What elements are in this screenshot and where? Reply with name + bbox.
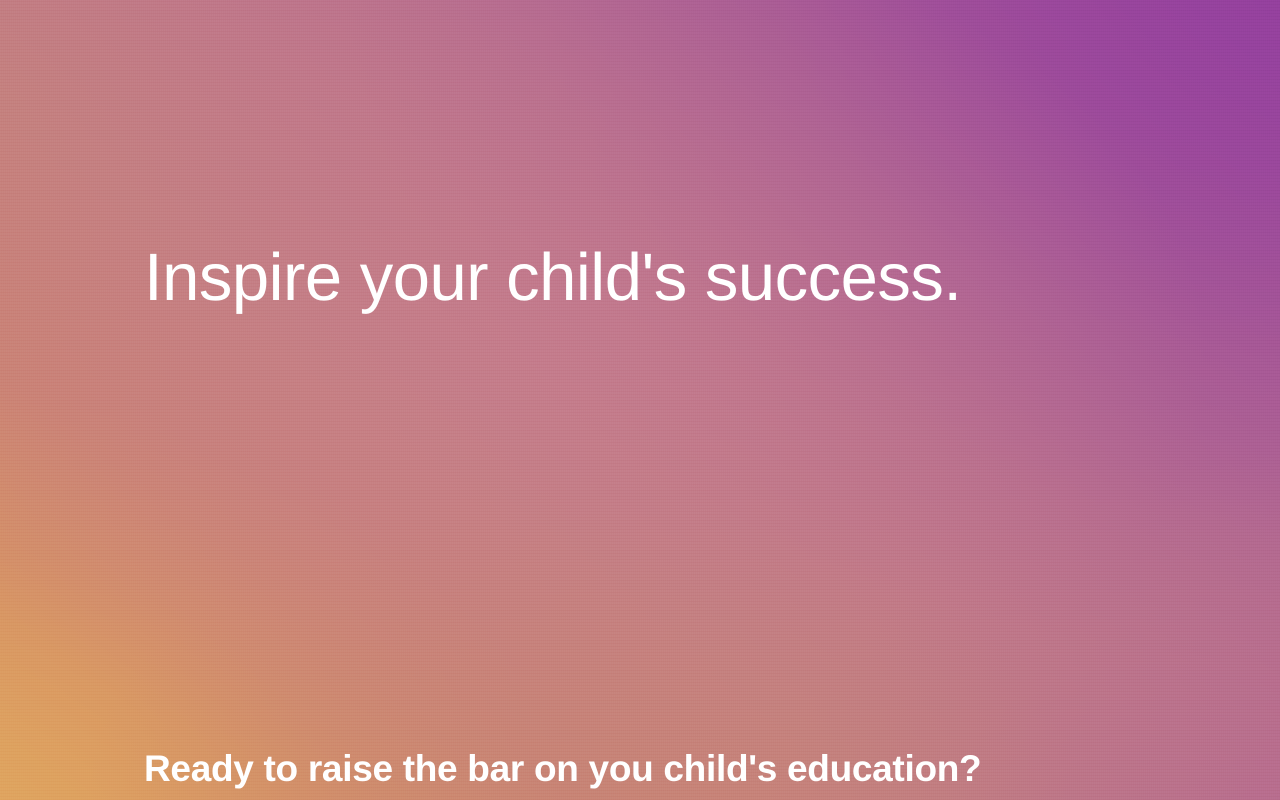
- hero-page: Inspire your child's success. Ready to r…: [0, 0, 1280, 800]
- hero-content: Inspire your child's success. Ready to r…: [0, 0, 1280, 800]
- hero-headline: Inspire your child's success.: [144, 244, 962, 311]
- hero-subheading: Ready to raise the bar on you child's ed…: [144, 748, 981, 791]
